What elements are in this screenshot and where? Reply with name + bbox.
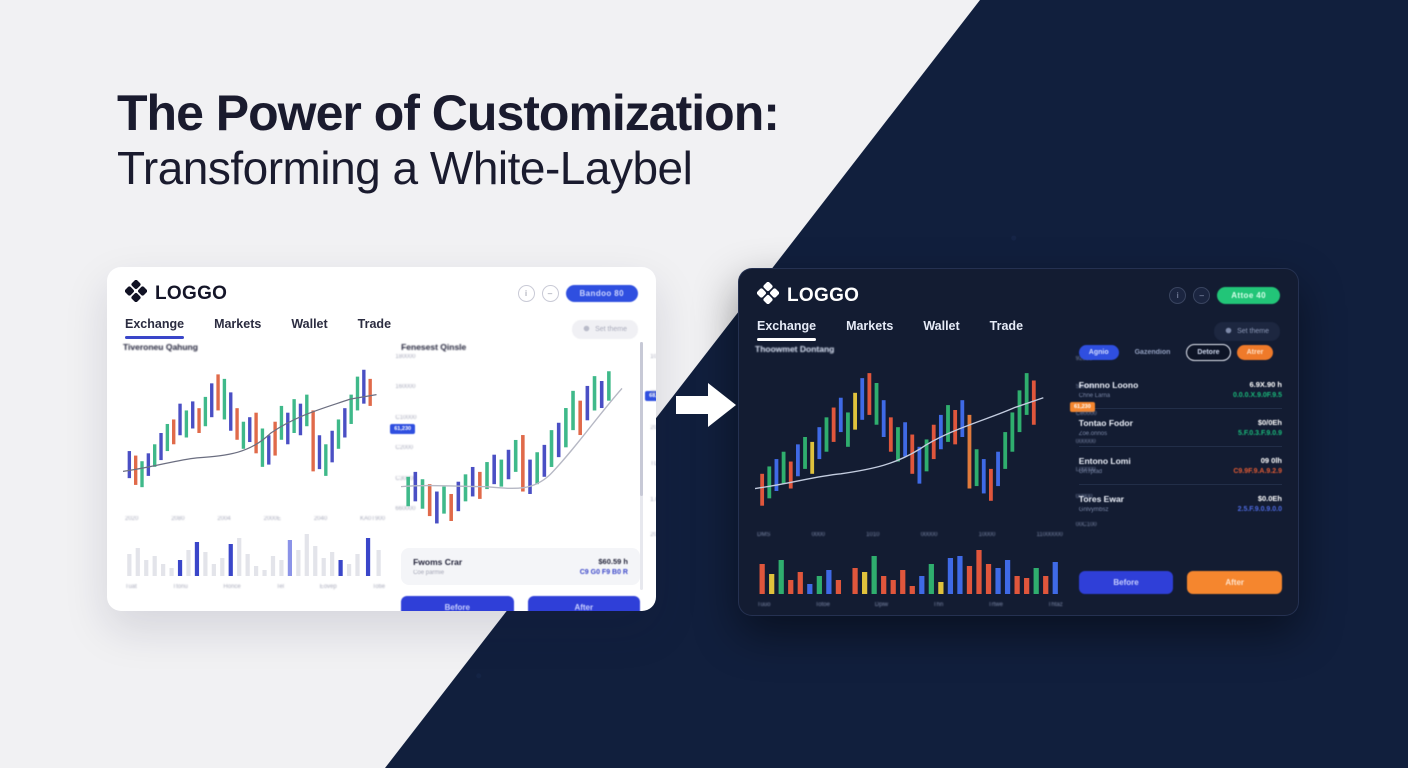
asset-title: Fonnno Loono [1079,380,1138,390]
dark-panel-body: Thoowmet Dontang [739,344,1298,608]
info-circle-icon[interactable]: i [1169,287,1186,304]
nav-item-markets[interactable]: Markets [846,319,893,344]
headline-line-2: Transforming a White-Laybel [117,141,957,195]
y-tick: 00C100 [1076,522,1097,528]
dark-chart-title: Thoowmet Dontang [755,344,1065,354]
x-tick: 0000 [812,532,825,538]
after-app-preview-dark: LOGGO i – Attoe 40 Exchange Markets Wall… [738,268,1299,616]
asset-change: C9.9F.9.A.9.2.9 [1233,468,1282,475]
x-tick: 11000000 [1037,532,1063,538]
nav-item-trade[interactable]: Trade [358,317,391,342]
asset-subtitle: Chne Larna [1079,393,1138,399]
x-tick: Tuuo [757,602,770,608]
arrow-right-icon [676,381,738,429]
x-tick: Totie [372,584,385,590]
nav-item-wallet[interactable]: Wallet [923,319,959,344]
dark-volume-chart [755,546,1065,600]
dark-chart-x-axis: DMS 0000 1010 00000 10000 11000000 [755,528,1065,538]
y-tick: 000000 [1076,439,1097,445]
headline-line-1: The Power of Customization: [117,85,957,141]
dark-panel-nav: Exchange Markets Wallet Trade Set theme [739,315,1298,344]
x-tick: 2080 [171,516,184,522]
light-panel-body: Tiveroneu Qahung [107,342,656,604]
palette-icon [1225,327,1232,336]
x-tick: Tuat [125,584,137,590]
x-tick: DMS [757,532,770,538]
y-tick: 1.08581 [650,497,656,503]
x-tick: 2004 [217,516,230,522]
x-tick: Ttonu [172,584,187,590]
dark-panel-button-row: Before After [1079,571,1282,594]
light-before-button[interactable]: Before [401,596,513,611]
asset-change: 5.F.0.3.F.9.0.9 [1238,430,1282,437]
light-volume-chart [123,530,387,582]
x-tick: 10000 [979,532,996,538]
light-after-button[interactable]: After [528,596,640,611]
dark-panel-sidebar: Agnio Gazendion Detore Atrer Fonnno Loon… [1079,344,1282,594]
nav-item-markets[interactable]: Markets [214,317,261,342]
light-panel-button-row: Before After [401,596,640,611]
nav-item-wallet[interactable]: Wallet [291,317,327,342]
dark-panel-header-actions: i – Attoe 40 [1169,287,1280,304]
asset-subtitle: Zoe.onnos [1079,431,1133,437]
nav-item-trade[interactable]: Trade [990,319,1023,344]
asset-list-item[interactable]: Tontao Fodor Zoe.onnos $0/0Eh 5.F.0.3.F.… [1079,409,1282,447]
light-panel-cta-button[interactable]: Bandoo 80 [566,285,639,302]
filter-pill-agnio[interactable]: Agnio [1079,345,1119,360]
x-tick: Totoe [815,602,830,608]
dark-panel-set-theme-chip[interactable]: Set theme [1214,322,1280,341]
dark-panel-filter-pills: Agnio Gazendion Detore Atrer [1079,344,1282,361]
asset-value: 09 0lh [1233,456,1282,465]
light-summary-title: Fwoms Crar [413,557,462,567]
x-tick: Thtaz [1048,602,1063,608]
x-tick: 1010 [866,532,879,538]
page-title: The Power of Customization: Transforming… [117,85,957,195]
light-candlestick-chart-right: 68,415 100000 20C000 200000 TL000C 1.085… [401,354,640,538]
diamond-cluster-logo-icon [757,282,779,309]
x-tick: 2020 [125,516,138,522]
dark-panel-chart-column: Thoowmet Dontang [755,344,1065,594]
x-tick: 2000E [264,516,281,522]
asset-change: 0.0.0.X.9.0F.9.5 [1233,392,1282,399]
filter-pill-atrer[interactable]: Atrer [1237,345,1274,360]
x-tick: Eovep [320,584,337,590]
light-chart-right-y-axis: 100000 20C000 200000 TL000C 1.08581 2081… [650,354,656,538]
light-candlestick-chart-left: 61,230 180000 160000 C10000 C2000 C3000E… [123,354,387,512]
light-panel-nav: Exchange Markets Wallet Trade Set theme [107,313,656,342]
light-summary-value: $60.59 h [580,557,628,566]
x-tick: Thn [933,602,943,608]
nav-item-exchange[interactable]: Exchange [757,319,816,344]
set-theme-label: Set theme [595,326,627,333]
light-panel-header: LOGGO i – Bandoo 80 [107,267,656,313]
dark-panel-header: LOGGO i – Attoe 40 [739,269,1298,315]
dark-panel-brand-name: LOGGO [787,285,859,307]
asset-title: Entono Lomi [1079,456,1131,466]
palette-icon [583,325,590,334]
asset-value: 6.9X.90 h [1233,380,1282,389]
filter-pill-gazendion[interactable]: Gazendion [1125,345,1181,360]
light-chart-left-x-axis: 2020 2080 2004 2000E 2040 KA0T900 [123,512,387,522]
dark-after-button[interactable]: After [1187,571,1282,594]
light-panel-header-actions: i – Bandoo 80 [518,285,639,302]
info-circle-icon[interactable]: i [518,285,535,302]
x-tick: 2040 [314,516,327,522]
asset-title: Tores Ewar [1079,494,1124,504]
dark-panel-brand[interactable]: LOGGO [757,282,859,309]
light-summary-subtitle: Coe parmie [413,570,462,576]
dark-volume-x-axis: Tuuo Totoe Dpiw Thn Trtwe Thtaz [755,600,1065,608]
light-panel-left-column: Tiveroneu Qahung [123,342,387,590]
asset-value: $0/0Eh [1238,418,1282,427]
dark-before-button[interactable]: Before [1079,571,1174,594]
light-panel-brand-name: LOGGO [155,283,227,305]
x-tick: Tel [276,584,284,590]
dark-panel-asset-list: Fonnno Loono Chne Larna 6.9X.90 h 0.0.0.… [1079,371,1282,560]
light-panel-brand[interactable]: LOGGO [125,280,227,307]
asset-subtitle: Gnlvymbsz [1079,507,1124,513]
light-panel-scrollbar[interactable] [640,342,643,590]
light-volume-x-axis: Tuat Ttonu Honce Tel Eovep Totie [123,582,387,590]
minus-circle-icon[interactable]: – [1193,287,1210,304]
dark-panel-cta-button[interactable]: Attoe 40 [1217,287,1280,304]
light-chart-right-title: Fenesest Qinsle [401,342,640,352]
light-panel-set-theme-chip[interactable]: Set theme [572,320,638,339]
before-app-preview-light: LOGGO i – Bandoo 80 Exchange Markets Wal… [107,267,656,611]
asset-list-item[interactable]: Tores Ewar Gnlvymbsz $0.0Eh 2.5.F.9.0.9.… [1079,485,1282,522]
y-tick: 208190 [650,532,656,538]
dark-candlestick-chart: 61,230 92500 Sto000 Ce0000 000000 L00000… [755,356,1065,528]
minus-circle-icon[interactable]: – [542,285,559,302]
x-tick: Honce [223,584,240,590]
x-tick: Trtwe [988,602,1003,608]
y-tick: 20C000 [650,390,656,396]
set-theme-label: Set theme [1237,328,1269,335]
asset-list-item[interactable]: Fonnno Loono Chne Larna 6.9X.90 h 0.0.0.… [1079,371,1282,409]
diamond-cluster-logo-icon [125,280,147,307]
x-tick: Dpiw [875,602,888,608]
nav-item-exchange[interactable]: Exchange [125,317,184,342]
asset-subtitle: Gn.rptad [1079,469,1131,475]
asset-title: Tontao Fodor [1079,418,1133,428]
light-panel-right-column: Fenesest Qinsle [401,342,640,590]
light-summary-change: C9 G0 F9 B0 R [580,569,628,576]
x-tick: KA0T900 [360,516,385,522]
asset-value: $0.0Eh [1238,494,1282,503]
y-tick: 200000 [650,425,656,431]
y-tick: TL000C [650,461,656,467]
y-tick: Ce0000 [1076,411,1097,417]
x-tick: 00000 [921,532,938,538]
asset-change: 2.5.F.9.0.9.0.0 [1238,506,1282,513]
light-chart-left-title: Tiveroneu Qahung [123,342,387,352]
y-tick: 100000 [650,354,656,360]
light-summary-card: Fwoms Crar Coe parmie $60.59 h C9 G0 F9 … [401,548,640,585]
asset-list-item[interactable]: Entono Lomi Gn.rptad 09 0lh C9.9F.9.A.9.… [1079,447,1282,485]
filter-pill-detore[interactable]: Detore [1186,344,1230,361]
